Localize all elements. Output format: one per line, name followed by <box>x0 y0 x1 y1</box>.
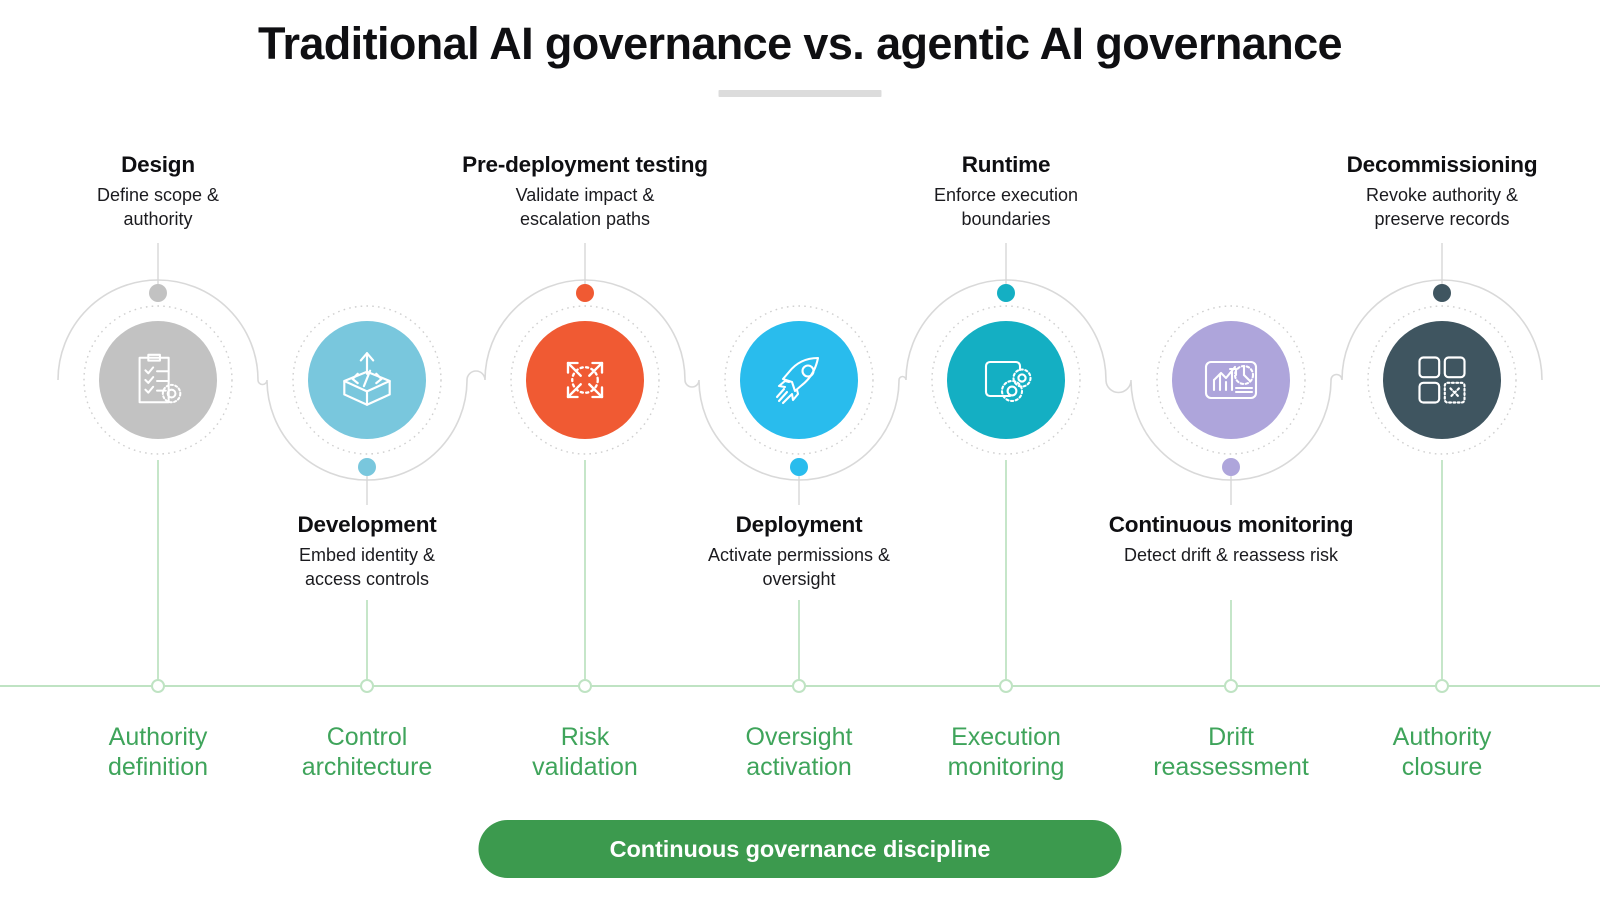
stage-node-development[interactable] <box>308 321 426 439</box>
stage-subtitle-runtime: Enforce executionboundaries <box>841 184 1171 232</box>
stage-subtitle-development: Embed identity &access controls <box>202 544 532 592</box>
stage-caption-continuous-monitoring: Continuous monitoringDetect drift & reas… <box>1066 512 1396 568</box>
open-box-code-icon <box>334 347 400 413</box>
clipboard-checklist-gear-icon <box>127 349 189 411</box>
stage-caption-runtime: RuntimeEnforce executionboundaries <box>841 152 1171 232</box>
stage-node-pre-deployment-testing[interactable] <box>526 321 644 439</box>
stage-node-continuous-monitoring[interactable] <box>1172 321 1290 439</box>
stage-subtitle-continuous-monitoring: Detect drift & reassess risk <box>1066 544 1396 568</box>
stage-title-deployment: Deployment <box>634 512 964 537</box>
stage-outcome-runtime: Executionmonitoring <box>881 722 1131 782</box>
stage-caption-development: DevelopmentEmbed identity &access contro… <box>202 512 532 592</box>
stage-caption-pre-deployment-testing: Pre-deployment testingValidate impact &e… <box>420 152 750 232</box>
stage-outcome-development: Controlarchitecture <box>242 722 492 782</box>
stage-title-continuous-monitoring: Continuous monitoring <box>1066 512 1396 537</box>
stage-subtitle-deployment: Activate permissions &oversight <box>634 544 964 592</box>
stage-caption-design: DesignDefine scope &authority <box>0 152 323 232</box>
infographic-canvas: Traditional AI governance vs. agentic AI… <box>0 0 1600 900</box>
stage-title-decommissioning: Decommissioning <box>1277 152 1600 177</box>
stage-node-deployment[interactable] <box>740 321 858 439</box>
continuous-governance-pill[interactable]: Continuous governance discipline <box>479 820 1122 878</box>
stage-node-runtime[interactable] <box>947 321 1065 439</box>
stage-caption-deployment: DeploymentActivate permissions &oversigh… <box>634 512 964 592</box>
stage-subtitle-decommissioning: Revoke authority &preserve records <box>1277 184 1600 232</box>
stage-outcome-pre-deployment-testing: Riskvalidation <box>460 722 710 782</box>
stage-outcome-decommissioning: Authorityclosure <box>1317 722 1567 782</box>
stage-title-runtime: Runtime <box>841 152 1171 177</box>
rocket-icon <box>767 348 831 412</box>
stage-title-development: Development <box>202 512 532 537</box>
stage-node-decommissioning[interactable] <box>1383 321 1501 439</box>
stage-subtitle-design: Define scope &authority <box>0 184 323 232</box>
expand-arrows-icon <box>551 346 619 414</box>
stage-title-pre-deployment-testing: Pre-deployment testing <box>420 152 750 177</box>
stage-caption-decommissioning: DecommissioningRevoke authority &preserv… <box>1277 152 1600 232</box>
stage-node-design[interactable] <box>99 321 217 439</box>
window-gears-icon <box>974 348 1038 412</box>
stage-subtitle-pre-deployment-testing: Validate impact &escalation paths <box>420 184 750 232</box>
analytics-dashboard-icon <box>1199 348 1263 412</box>
stage-title-design: Design <box>0 152 323 177</box>
four-squares-remove-icon <box>1412 350 1472 410</box>
